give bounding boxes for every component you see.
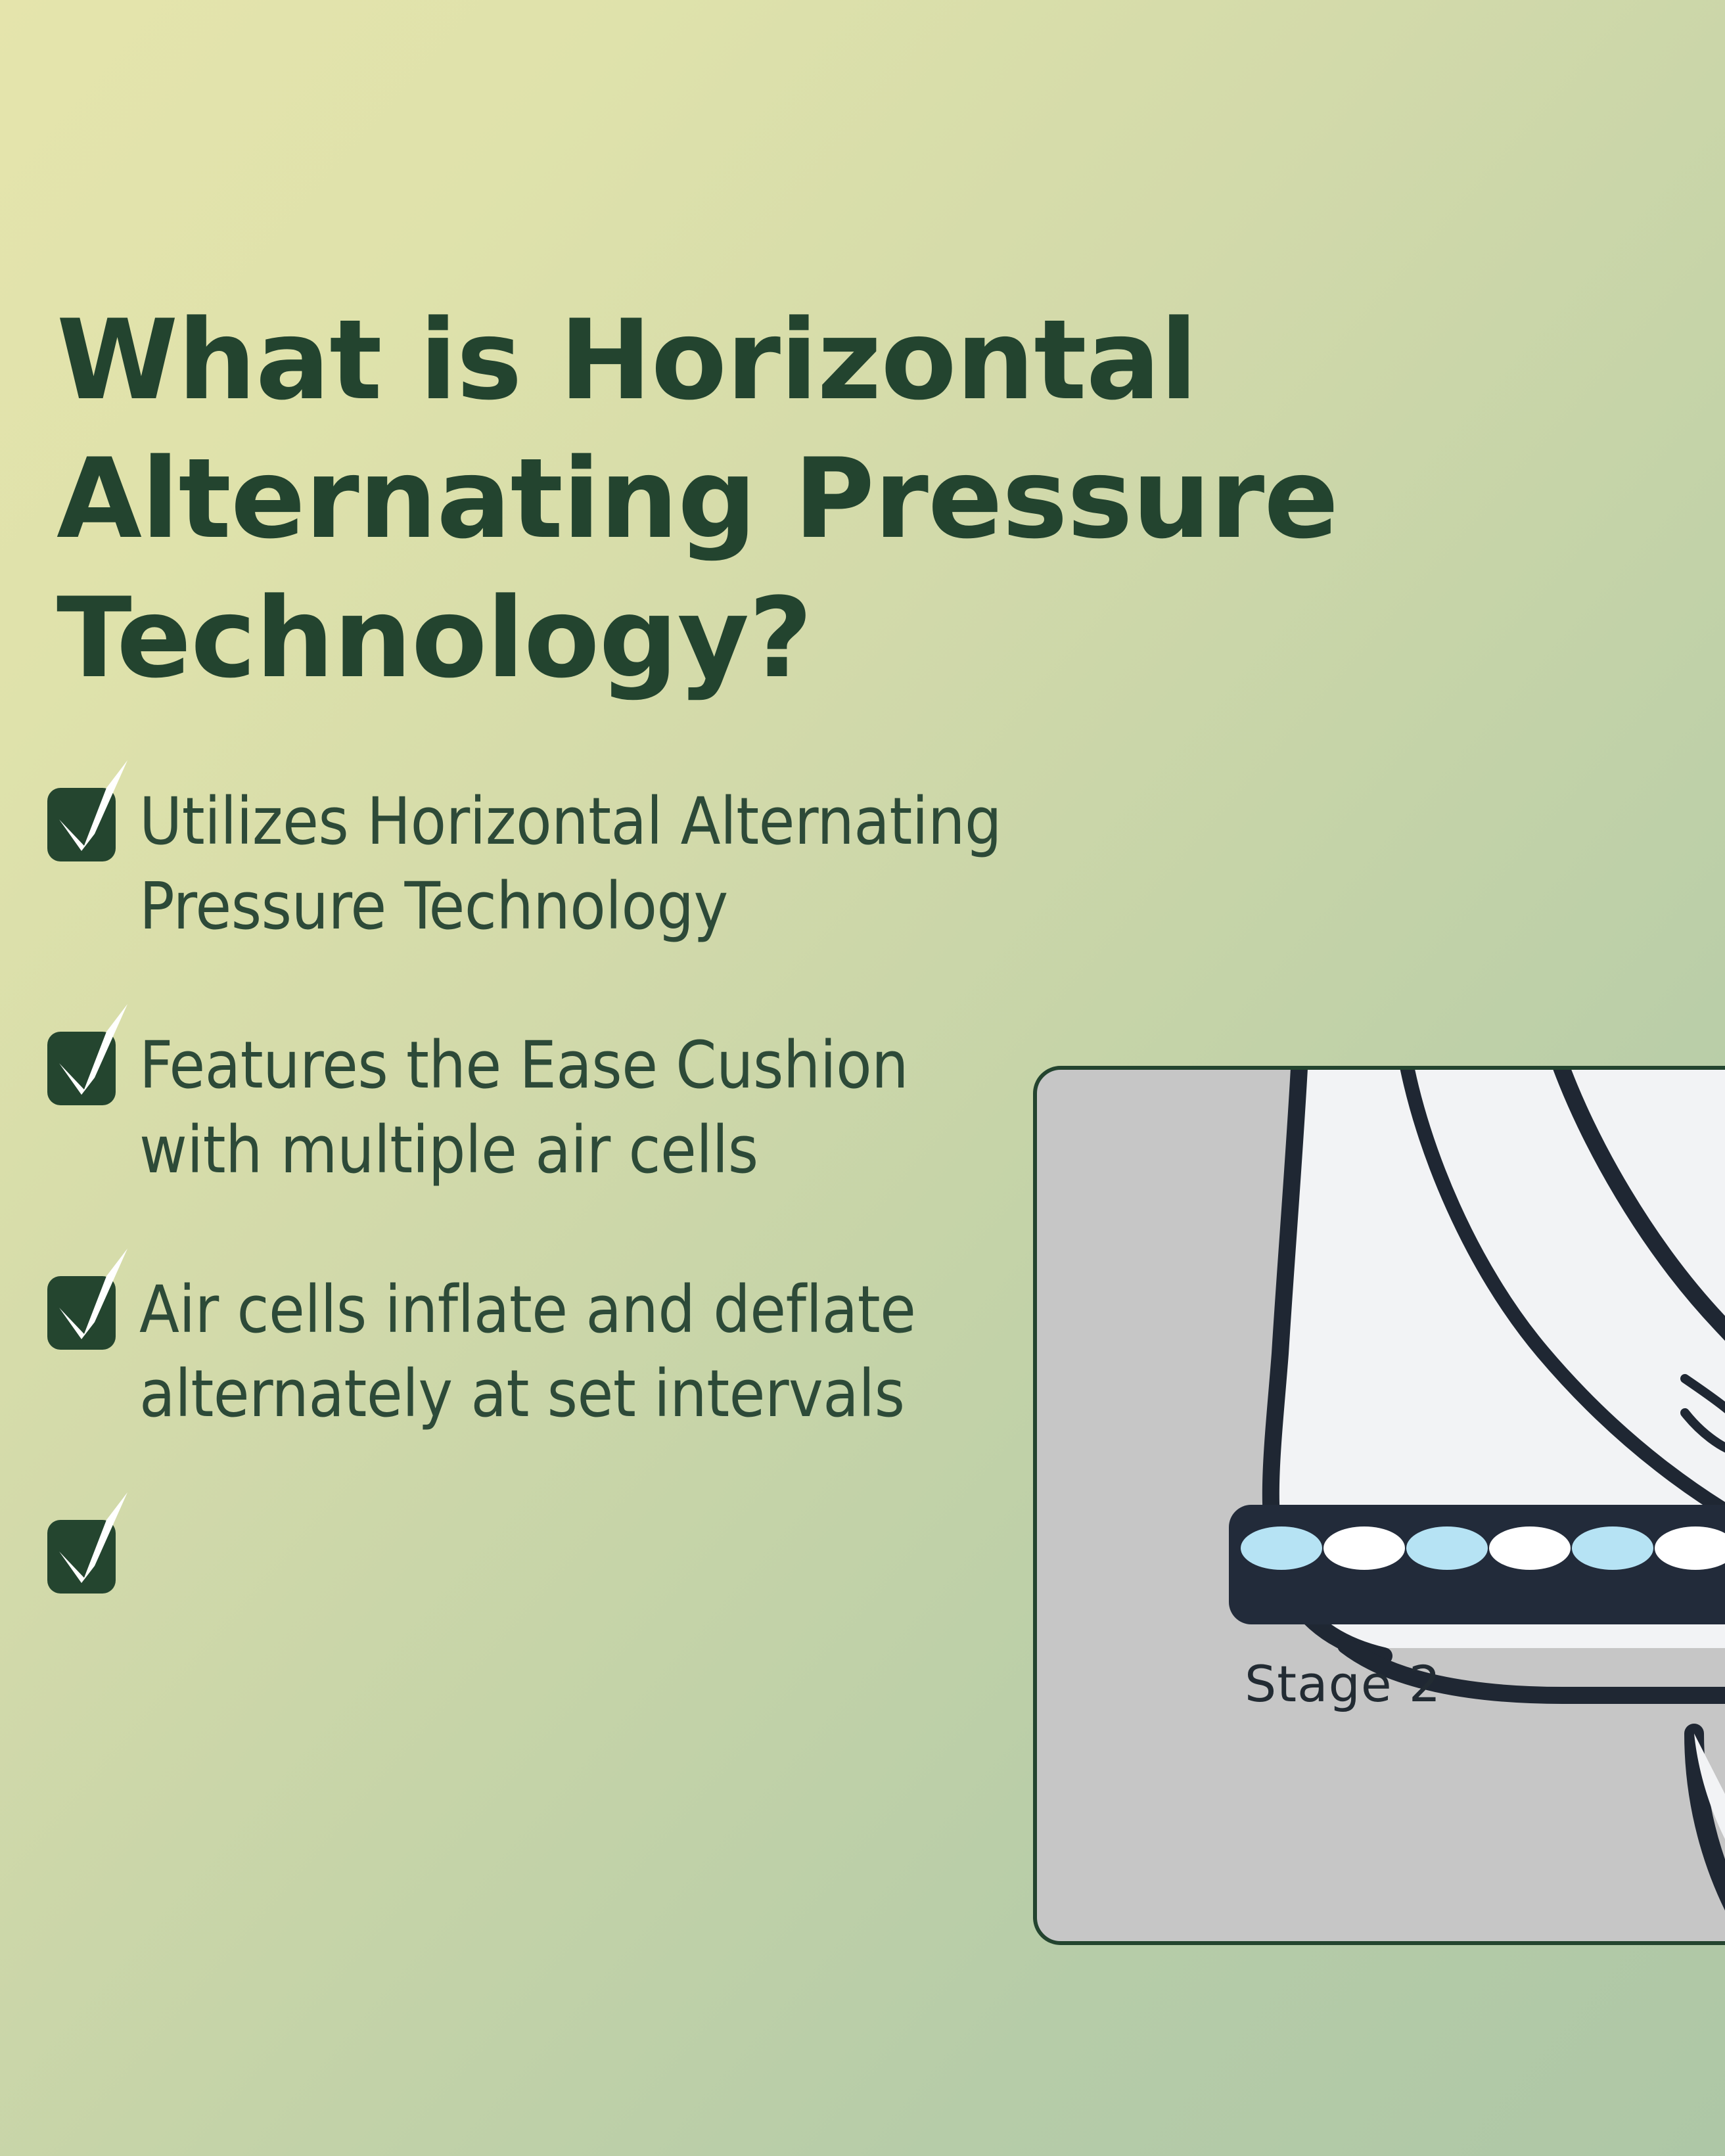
- air-cell-inflated: [1241, 1526, 1322, 1570]
- page-title: What is Horizontal Alternating Pressure …: [57, 291, 1437, 708]
- list-item: Air cells inflate and deflate alternatel…: [47, 1267, 1020, 1437]
- list-item-label: Air cells inflate and deflate alternatel…: [139, 1267, 1020, 1437]
- list-item-label: Features the Ease Cushion with multiple …: [139, 1022, 1020, 1193]
- list-item-label: Utilizes Horizontal Alternating Pressure…: [139, 779, 1020, 949]
- checkbox-box: [47, 1276, 116, 1350]
- checkbox-checked-icon[interactable]: [47, 1276, 116, 1350]
- air-cell-inflated: [1572, 1526, 1653, 1570]
- air-cell-deflated: [1489, 1526, 1571, 1570]
- air-cell-deflated: [1323, 1526, 1405, 1570]
- list-item: [47, 1511, 1020, 1594]
- checkbox-checked-icon[interactable]: [47, 1520, 116, 1594]
- list-item: Utilizes Horizontal Alternating Pressure…: [47, 779, 1020, 949]
- checkbox-box: [47, 788, 116, 861]
- checkbox-checked-icon[interactable]: [47, 1032, 116, 1105]
- checkbox-checked-icon[interactable]: [47, 788, 116, 861]
- checkbox-box: [47, 1032, 116, 1105]
- checkbox-box: [47, 1520, 116, 1594]
- air-cell-inflated: [1406, 1526, 1488, 1570]
- infographic-canvas: What is Horizontal Alternating Pressure …: [0, 0, 1725, 2156]
- heel-on-cushion-diagram: [1037, 1070, 1725, 1941]
- list-item: Features the Ease Cushion with multiple …: [47, 1022, 1020, 1193]
- feature-checklist: Utilizes Horizontal Alternating Pressure…: [47, 779, 1020, 1594]
- illustration-panel: Stage 2: [1033, 1066, 1725, 1945]
- stage-caption: Stage 2: [1245, 1655, 1441, 1713]
